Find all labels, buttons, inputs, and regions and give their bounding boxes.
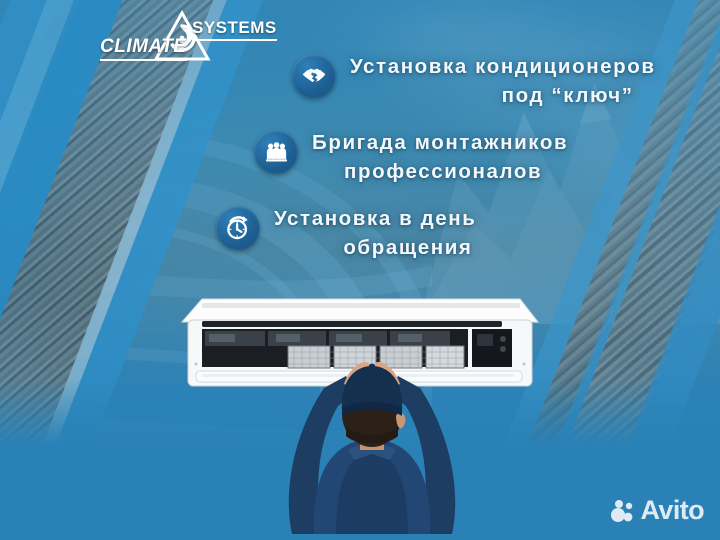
feature-text: Установка в день обращения (274, 204, 476, 262)
group-people-icon (254, 130, 298, 174)
feature-item-professional-crew: Бригада монтажников профессионалов (254, 128, 568, 186)
feature-item-same-day-installation: Установка в день обращения (216, 204, 476, 262)
feature-line-2: обращения (274, 233, 476, 262)
fast-clock-icon (216, 206, 260, 250)
company-logo: CLIMATE SYSTEMS (100, 8, 280, 64)
logo-text-climate: CLIMATE (100, 36, 187, 61)
feature-text: Бригада монтажников профессионалов (312, 128, 568, 186)
avito-brand-text: Avito (641, 495, 705, 526)
feature-line-1: Установка в день (274, 207, 476, 230)
logo-text-systems: SYSTEMS (192, 18, 277, 41)
avito-watermark: Avito (610, 495, 705, 526)
feature-line-1: Бригада монтажников (312, 131, 568, 154)
feature-line-2: под “ключ” (350, 81, 656, 110)
handshake-icon (292, 54, 336, 98)
feature-line-2: профессионалов (312, 157, 568, 186)
feature-line-1: Установка кондиционеров (350, 55, 656, 78)
technician-installing-ac (252, 358, 492, 540)
avito-dots-logo (610, 499, 636, 523)
feature-text: Установка кондиционеров под “ключ” (350, 52, 656, 110)
advertisement-banner: CLIMATE SYSTEMS Установка кондиционеров … (0, 0, 720, 540)
feature-item-turnkey-installation: Установка кондиционеров под “ключ” (292, 52, 656, 110)
